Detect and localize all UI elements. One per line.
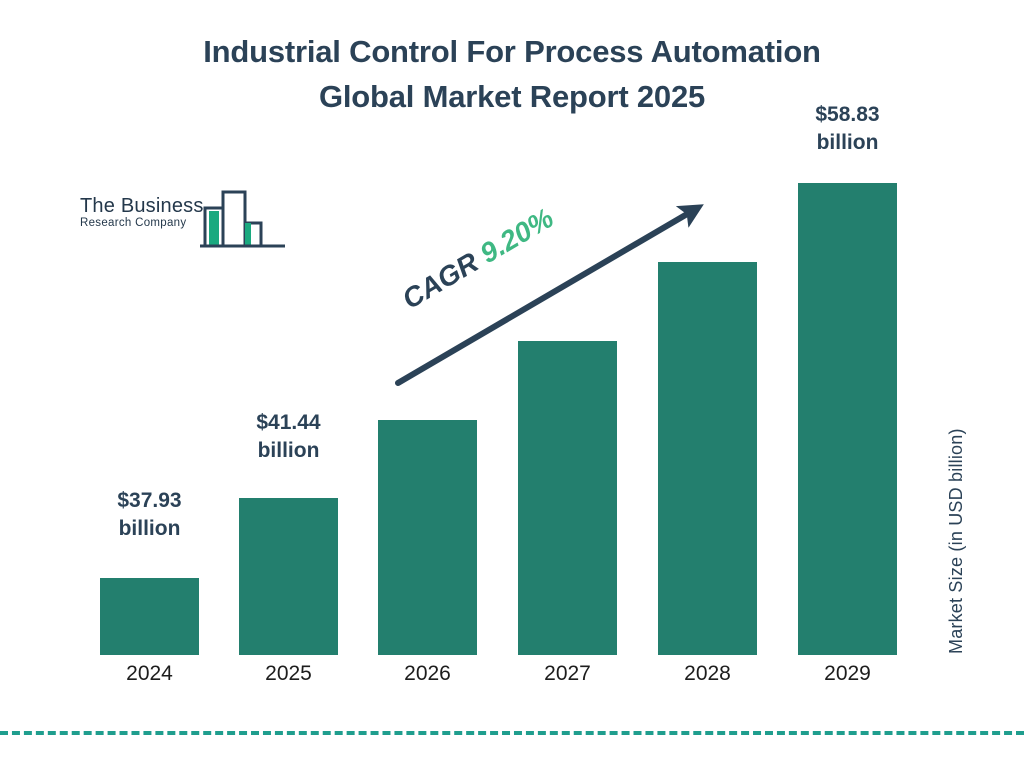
bar-2024: [100, 578, 199, 655]
x-tick-2029: 2029: [798, 662, 897, 686]
bar-value-label-2025: $41.44 billion: [239, 409, 338, 464]
bar-2028: [658, 262, 757, 655]
footer-divider: [0, 731, 1024, 735]
y-axis-title: Market Size (in USD billion): [946, 428, 967, 654]
chart-canvas: Industrial Control For Process Automatio…: [0, 0, 1024, 768]
x-tick-2026: 2026: [378, 662, 477, 686]
bar-value-amount-2025: $41.44: [239, 409, 338, 437]
bar-2027: [518, 341, 617, 655]
bar-value-unit-2025: billion: [239, 437, 338, 465]
bar-value-label-2024: $37.93 billion: [100, 487, 199, 542]
x-tick-2024: 2024: [100, 662, 199, 686]
bar-2025: [239, 498, 338, 655]
bar-value-label-2029: $58.83 billion: [790, 101, 905, 156]
bars-plot-area: $37.93 billion $41.44 billion $58.83 bil…: [0, 0, 1024, 700]
bar-value-unit-2029: billion: [790, 129, 905, 157]
x-tick-2025: 2025: [239, 662, 338, 686]
bar-value-unit-2024: billion: [100, 515, 199, 543]
bar-value-amount-2024: $37.93: [100, 487, 199, 515]
x-tick-2028: 2028: [658, 662, 757, 686]
x-tick-2027: 2027: [518, 662, 617, 686]
bar-2029: [798, 183, 897, 655]
bar-2026: [378, 420, 477, 655]
bar-value-amount-2029: $58.83: [790, 101, 905, 129]
